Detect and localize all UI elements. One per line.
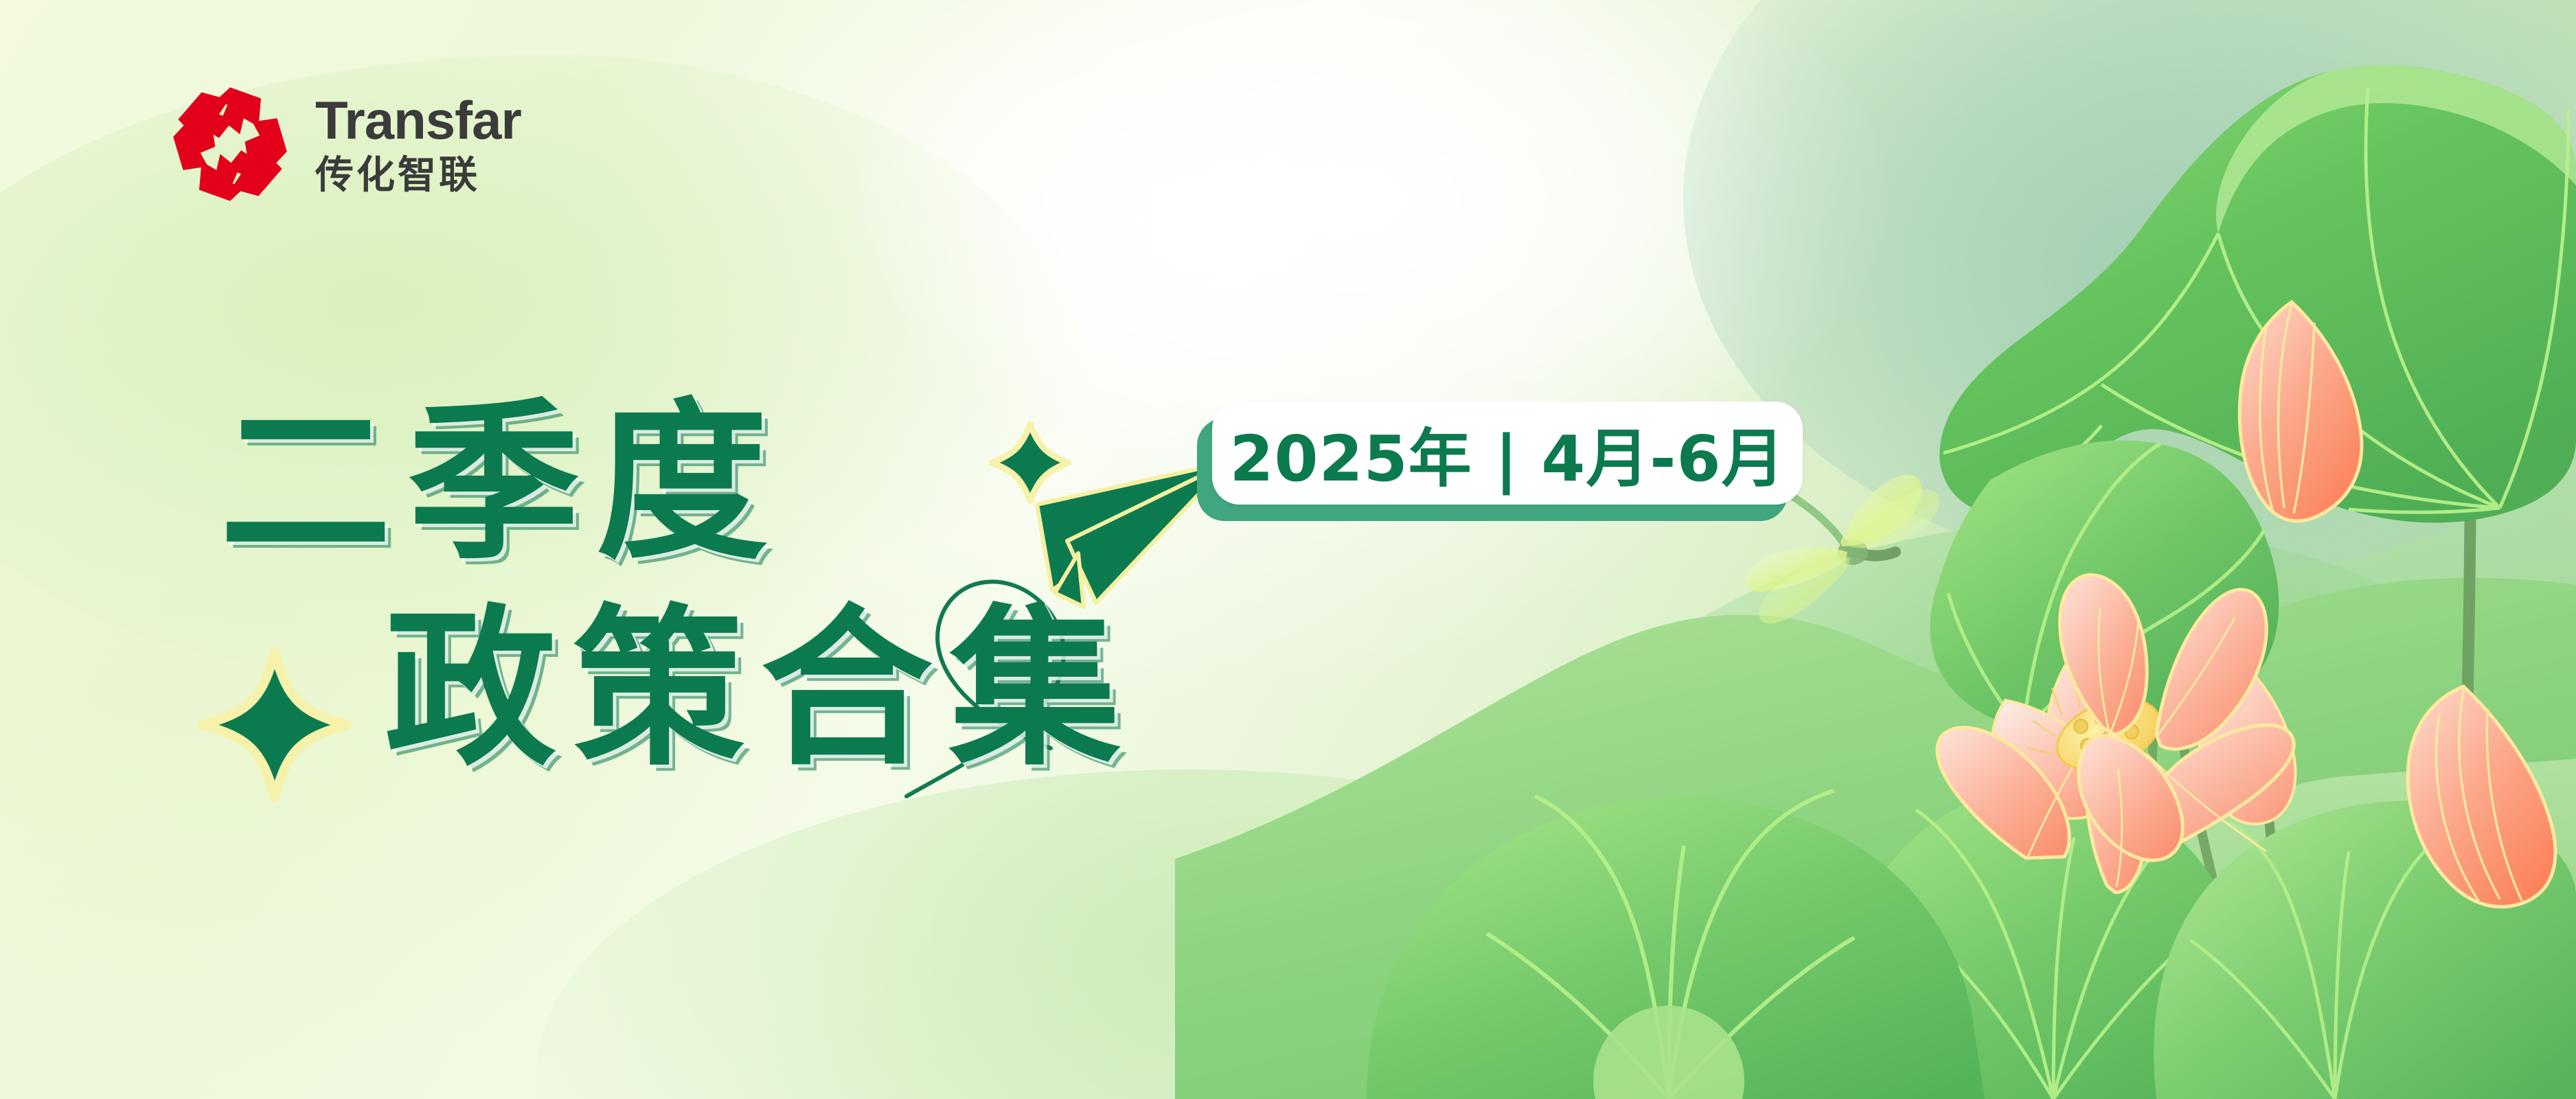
quarterly-policy-banner: Transfar 传化智联 二季度 政策合集 2025年 | 4月-6月 — [0, 0, 2576, 1099]
date-badge-label: 2025年 | 4月-6月 — [1230, 408, 1786, 499]
brand-logo[interactable]: Transfar 传化智联 — [168, 82, 521, 206]
brand-wordmark: Transfar 传化智联 — [315, 93, 521, 195]
headline-block: 二季度 政策合集 — [0, 343, 1305, 865]
transfar-pinwheel-logo-icon — [168, 82, 292, 206]
brand-name-cn: 传化智联 — [315, 157, 521, 195]
brand-name-en: Transfar — [315, 93, 521, 147]
headline-line-2: 政策合集 — [385, 549, 1137, 798]
date-badge-wrapper: 2025年 | 4月-6月 — [1212, 402, 1803, 505]
green-wave-mass — [1175, 433, 2576, 1099]
date-badge[interactable]: 2025年 | 4月-6月 — [1212, 402, 1803, 505]
